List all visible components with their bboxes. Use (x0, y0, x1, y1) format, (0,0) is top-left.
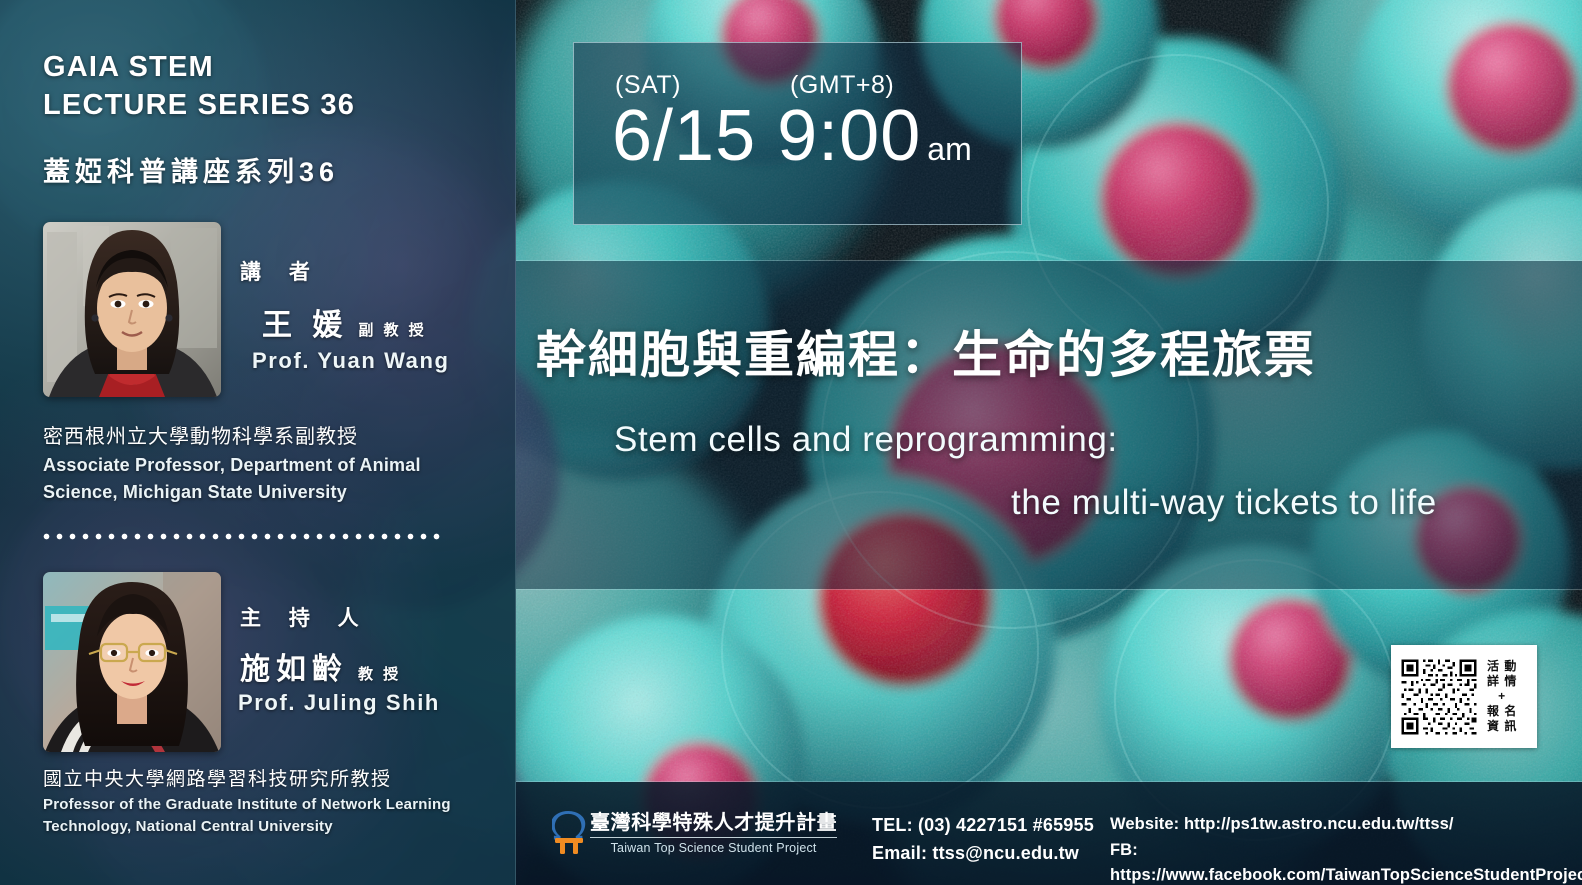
meridiem-label: am (927, 131, 971, 167)
divider-footer (516, 781, 1582, 782)
left-info-panel: GAIA STEM LECTURE SERIES 36 蓋婭科普講座系列36 (0, 0, 516, 885)
lecture-title-english-line1: Stem cells and reprogramming: (614, 420, 1118, 460)
speaker-role-label: 講 者 (240, 256, 321, 286)
qr-registration-panel[interactable]: 活 動 詳 情 + 報 名 資 訊 (1391, 645, 1537, 748)
series-title-chinese: 蓋婭科普講座系列36 (43, 150, 473, 189)
organization-logo-block: 臺灣科學特殊人才提升計畫 Taiwan Top Science Student … (552, 806, 837, 855)
date-time-value: 6/15 9:00am (612, 100, 972, 172)
organization-names: 臺灣科學特殊人才提升計畫 Taiwan Top Science Student … (590, 806, 837, 855)
speaker-name-zh-text: 王 媛 (262, 309, 348, 342)
host-name-zh-text: 施如齡 (240, 653, 348, 686)
divider-middle (516, 589, 1582, 590)
host-affiliation-chinese: 國立中央大學網路學習科技研究所教授 (43, 764, 483, 791)
speaker-title-zh: 副 教 授 (358, 322, 426, 339)
website-link[interactable]: Website: http://ps1tw.astro.ncu.edu.tw/t… (1110, 812, 1582, 838)
host-name-chinese: 施如齡教 授 (240, 644, 401, 688)
qr-caption-line4: 報 名 (1487, 704, 1517, 719)
facebook-link[interactable]: FB: https://www.facebook.com/TaiwanTopSc… (1110, 838, 1582, 885)
contact-info: TEL: (03) 4227151 #65955 Email: ttss@ncu… (872, 812, 1094, 868)
organization-name-chinese: 臺灣科學特殊人才提升計畫 (590, 806, 837, 838)
web-links: Website: http://ps1tw.astro.ncu.edu.tw/t… (1110, 812, 1582, 885)
qr-caption: 活 動 詳 情 + 報 名 資 訊 (1487, 659, 1517, 734)
lecture-title-chinese: 幹細胞與重編程：生命的多程旅票 (536, 328, 1566, 383)
host-role-label: 主 持 人 (240, 602, 370, 632)
speaker-affiliation-english: Associate Professor, Department of Anima… (43, 452, 493, 505)
section-dotted-divider (40, 532, 440, 541)
speaker-affiliation-chinese: 密西根州立大學動物科學系副教授 (43, 420, 483, 449)
email-line[interactable]: Email: ttss@ncu.edu.tw (872, 840, 1094, 868)
host-name-english: Prof. Juling Shih (238, 690, 440, 716)
lecture-poster: GAIA STEM LECTURE SERIES 36 蓋婭科普講座系列36 (0, 0, 1582, 885)
speaker-photo (43, 222, 221, 397)
divider-top (516, 260, 1582, 261)
host-title-zh: 教 授 (358, 666, 401, 683)
series-title-english: GAIA STEM LECTURE SERIES 36 (43, 48, 473, 125)
date-time-text: 6/15 9:00 (612, 96, 921, 176)
speaker-name-english: Prof. Yuan Wang (252, 348, 450, 374)
host-photo (43, 572, 221, 752)
series-title-line2: LECTURE SERIES 36 (43, 86, 473, 124)
lecture-title-english-line2: the multi-way tickets to life (1011, 483, 1437, 523)
qr-code-icon[interactable] (1399, 657, 1479, 737)
qr-caption-line5: 資 訊 (1487, 719, 1517, 734)
telephone-line: TEL: (03) 4227151 #65955 (872, 812, 1094, 840)
qr-caption-line2: 詳 情 (1487, 674, 1517, 689)
speaker-name-chinese: 王 媛副 教 授 (262, 300, 427, 344)
series-title-line1: GAIA STEM (43, 48, 473, 86)
host-portrait-illustration (43, 572, 221, 752)
qr-caption-line1: 活 動 (1487, 659, 1517, 674)
qr-caption-line3: + (1498, 689, 1506, 704)
omega-pi-logo-icon (552, 806, 586, 854)
organization-name-english: Taiwan Top Science Student Project (590, 841, 837, 855)
speaker-portrait-illustration (43, 222, 221, 397)
host-affiliation-english: Professor of the Graduate Institute of N… (43, 794, 493, 838)
date-time-box: (SAT) (GMT+8) 6/15 9:00am (573, 42, 1022, 225)
